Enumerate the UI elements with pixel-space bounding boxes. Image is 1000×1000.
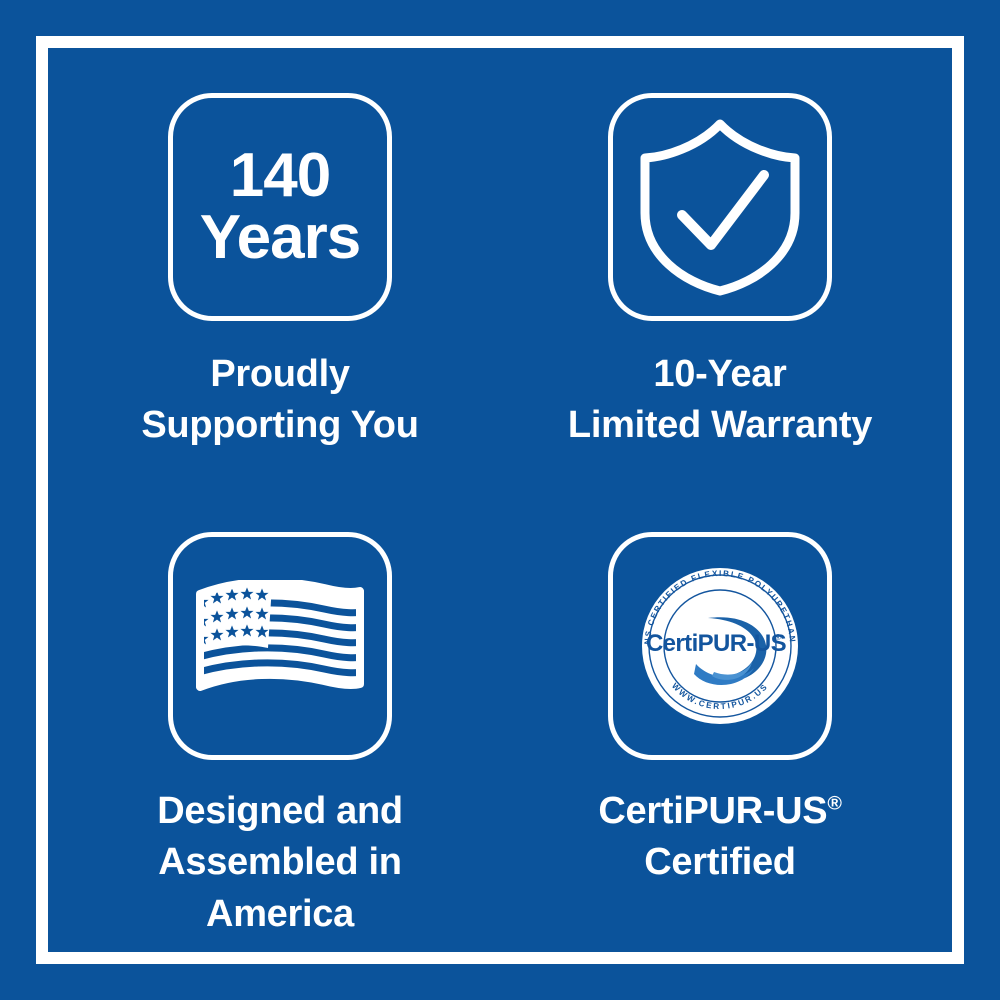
shield-check-icon [635,117,805,297]
feature-label-certipur: CertiPUR-US®Certified [598,786,841,889]
feature-label-years: Proudly Supporting You [141,349,418,452]
feature-item-years: 140 Years Proudly Supporting You [60,60,500,499]
feature-label-america: Designed and Assembled in America [157,786,403,940]
flag-icon-frame [168,532,392,760]
usa-flag-icon [194,580,366,712]
certipur-icon-frame: CONTAINS CERTIFIED FLEXIBLE POLYURETHANE… [608,532,832,760]
seal-wordmark-registered-mark: ® [775,633,781,642]
registered-trademark-icon: ® [827,792,841,814]
feature-label-warranty: 10-Year Limited Warranty [568,349,872,452]
certipur-label-line2: Certified [644,841,795,883]
shield-icon-frame [608,93,832,321]
feature-grid: 140 Years Proudly Supporting You 10-Year… [60,60,940,940]
feature-item-america: Designed and Assembled in America [60,499,500,940]
feature-item-certipur: CONTAINS CERTIFIED FLEXIBLE POLYURETHANE… [500,499,940,940]
years-badge-text: 140 Years [200,145,361,269]
certipur-us-seal-icon: CONTAINS CERTIFIED FLEXIBLE POLYURETHANE… [630,556,810,736]
feature-item-warranty: 10-Year Limited Warranty [500,60,940,499]
certipur-label-line1: CertiPUR-US [598,790,827,832]
promo-graphic: 140 Years Proudly Supporting You 10-Year… [0,0,1000,1000]
seal-wordmark: CertiPUR-US [646,630,787,657]
years-badge-icon: 140 Years [168,93,392,321]
